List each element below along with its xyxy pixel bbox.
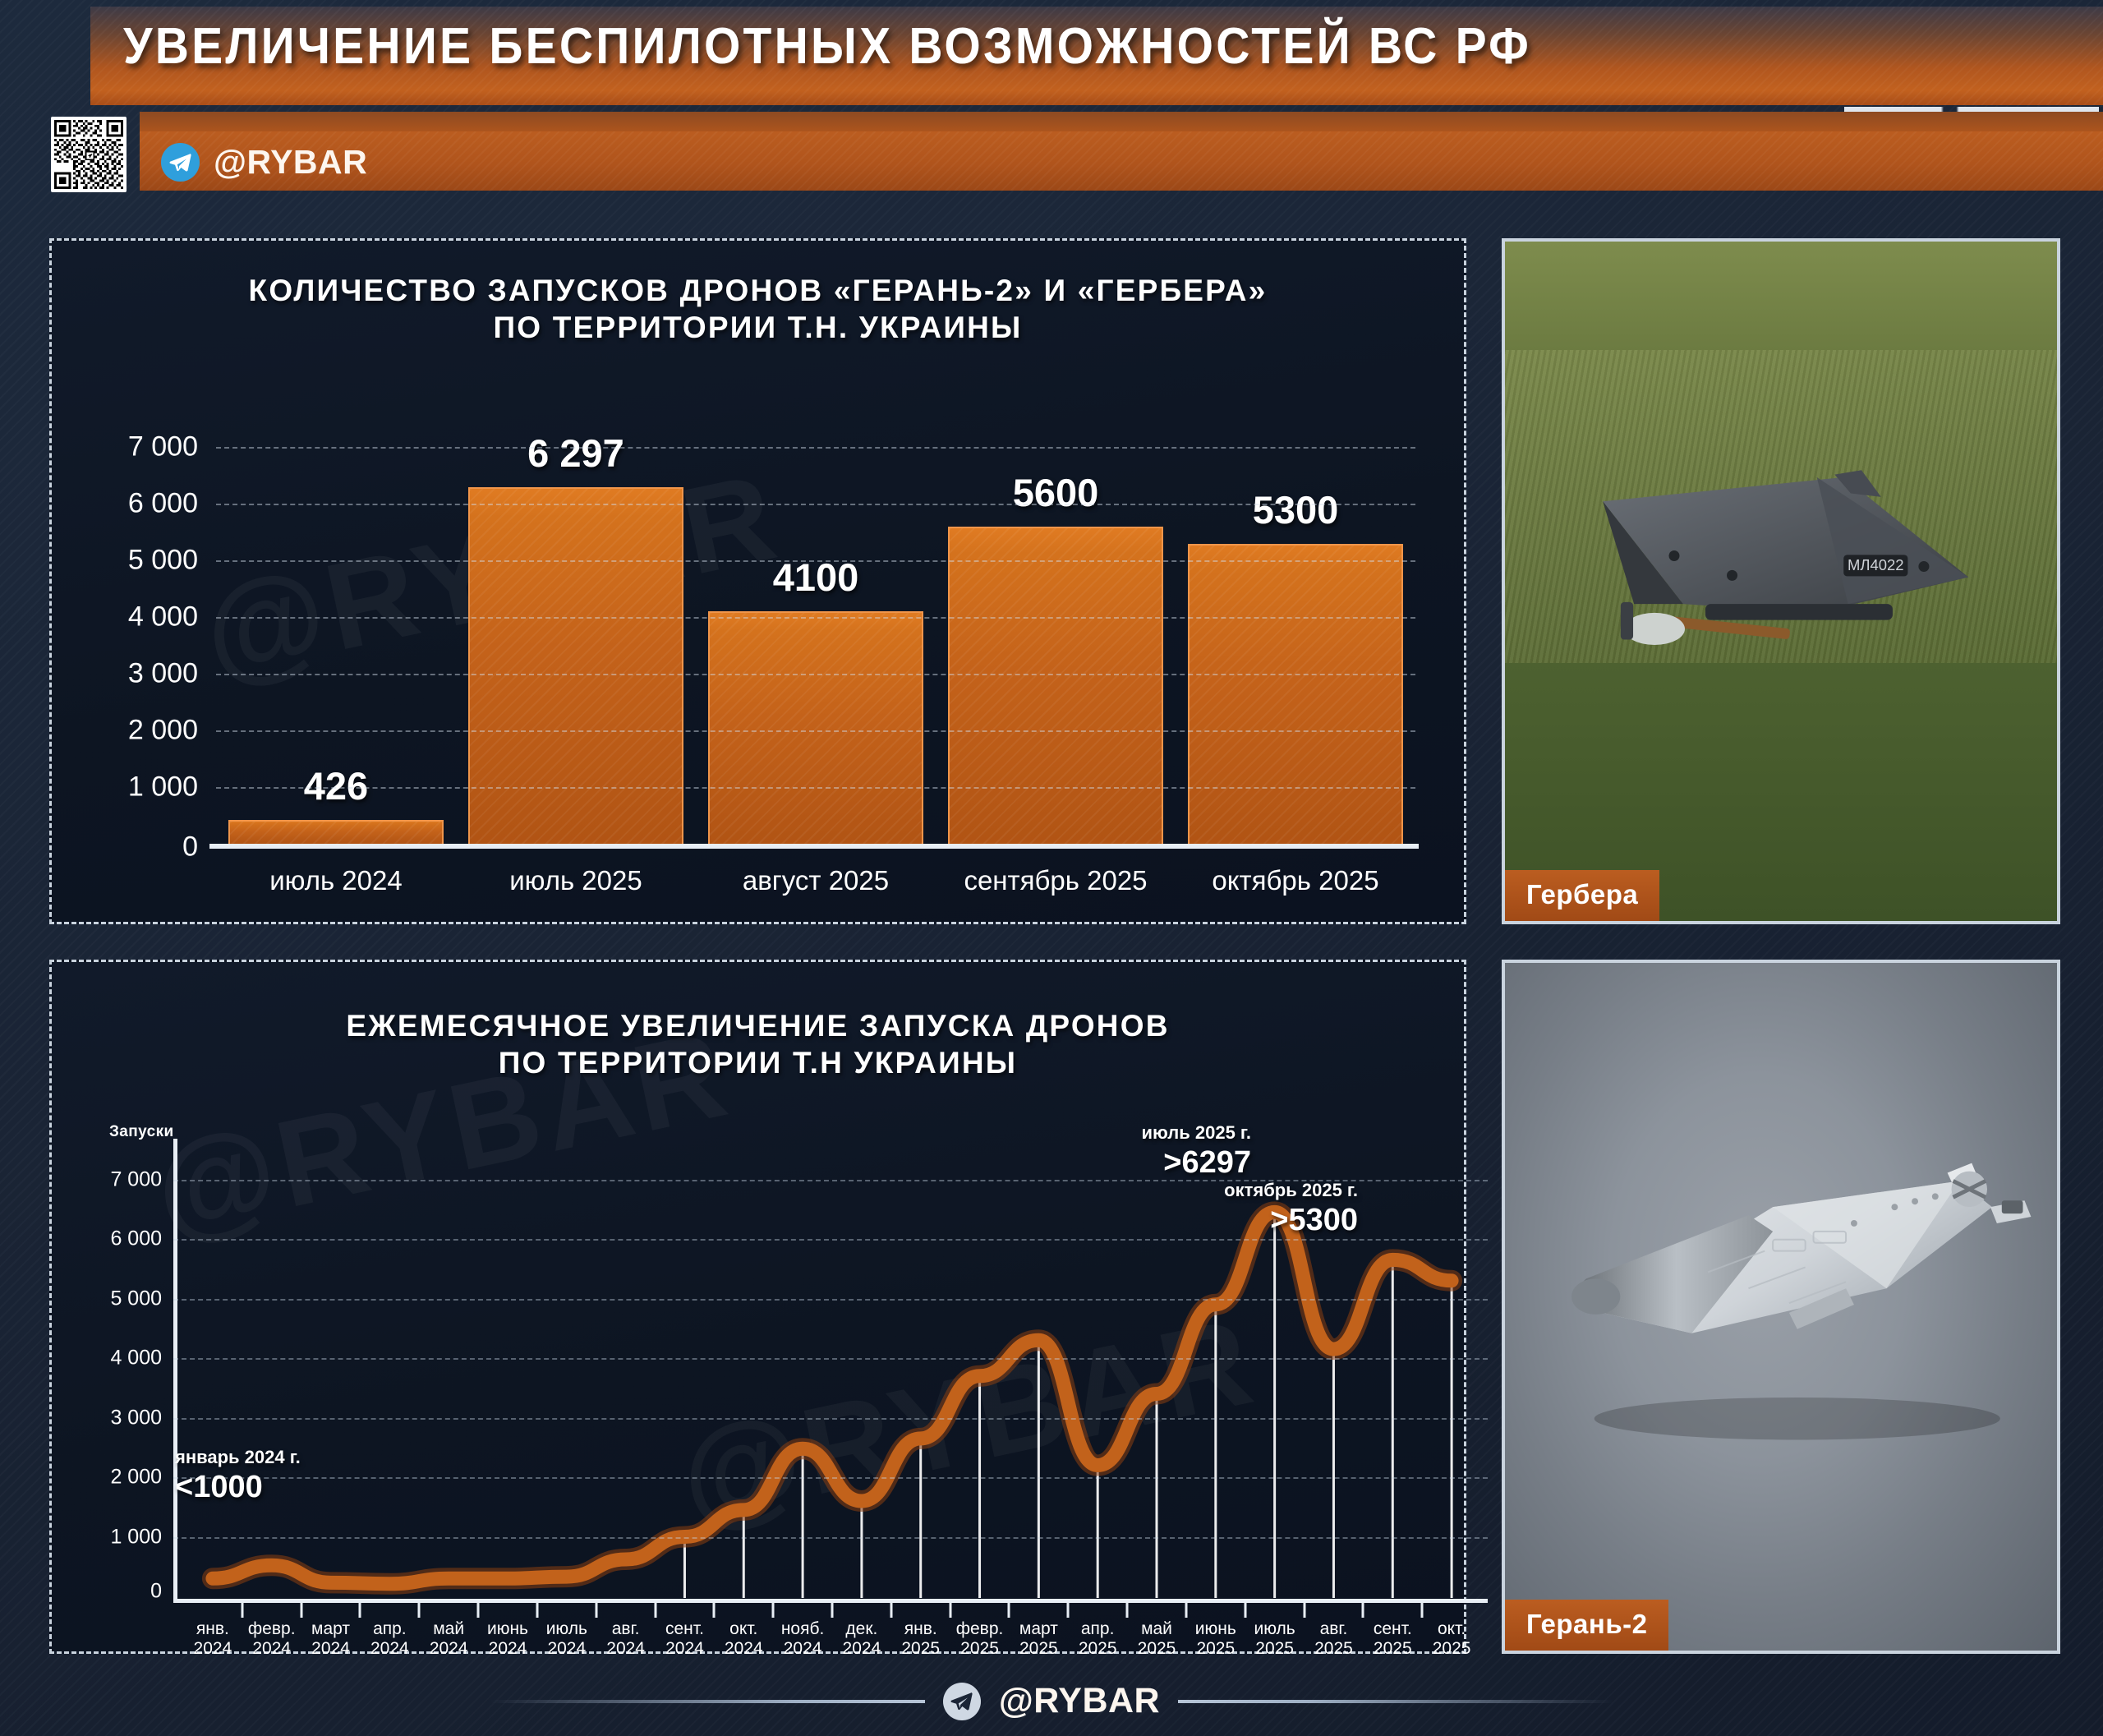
bar-category-label: август 2025 <box>743 865 889 896</box>
line-chart-line-glow <box>213 1212 1452 1583</box>
line-chart-x-tick-mark <box>1008 1603 1010 1618</box>
page-title: УВЕЛИЧЕНИЕ БЕСПИЛОТНЫХ ВОЗМОЖНОСТЕЙ ВС Р… <box>123 21 1531 72</box>
line-chart-x-tick-label: окт.2025 <box>1433 1619 1471 1658</box>
bar-value-label: 6 297 <box>527 431 624 476</box>
line-chart-x-tick-month: февр. <box>956 1619 1004 1638</box>
line-chart-x-tick-mark <box>1067 1603 1070 1618</box>
line-chart-x-tick-mark <box>418 1603 421 1618</box>
line-chart-x-tick-year: 2024 <box>784 1639 822 1658</box>
line-chart-x-tick-mark <box>595 1603 597 1618</box>
bar-chart-title-line2: ПО ТЕРРИТОРИИ Т.Н. УКРАИНЫ <box>52 309 1464 346</box>
page-header: УВЕЛИЧЕНИЕ БЕСПИЛОТНЫХ ВОЗМОЖНОСТЕЙ ВС Р… <box>0 0 2103 201</box>
line-chart-x-tick-month: сент. <box>665 1619 704 1638</box>
line-chart-gridline <box>173 1358 1488 1360</box>
line-chart-x-tick-mark <box>477 1603 480 1618</box>
line-chart-x-tick-label: янв.2024 <box>194 1619 232 1658</box>
bar-column[interactable]: 426июль 2024 <box>228 413 444 844</box>
subtitle-banner <box>140 131 2103 191</box>
line-chart-x-tick-year: 2024 <box>665 1639 704 1658</box>
line-chart-x-tick-month: февр. <box>248 1619 296 1638</box>
bar-chart-gridline <box>216 674 1415 675</box>
line-chart-x-tick-month: янв. <box>196 1619 229 1638</box>
bar-chart-y-tick: 4 000 <box>128 601 198 633</box>
gerbera-drone-photo: МЛ4022 Гербера <box>1502 238 2060 924</box>
line-chart-x-tick-month: май <box>1141 1619 1172 1638</box>
line-chart-x-tick-mark <box>949 1603 951 1618</box>
line-chart-x-tick-year: 2024 <box>843 1639 881 1658</box>
line-chart-line <box>213 1212 1452 1583</box>
line-chart-annotation-label: июль 2025 г. <box>1141 1122 1251 1144</box>
line-chart-x-tick-label: июль2024 <box>546 1619 587 1658</box>
line-chart-y-tick: 4 000 <box>110 1347 162 1370</box>
line-chart-title-line2: ПО ТЕРРИТОРИИ Т.Н УКРАИНЫ <box>52 1044 1464 1081</box>
line-chart-x-tick-year: 2025 <box>1433 1639 1471 1658</box>
line-chart-annotation: январь 2024 г.<1000 <box>175 1447 301 1505</box>
line-chart-x-tick-month: март <box>311 1619 350 1638</box>
geran2-drone-illustration <box>1505 963 2057 1651</box>
line-chart-x-tick-label: сент.2025 <box>1374 1619 1412 1658</box>
line-chart-x-tick-year: 2024 <box>725 1639 763 1658</box>
bar-column[interactable]: 5600сентябрь 2025 <box>948 413 1164 844</box>
line-chart-annotation: июль 2025 г.>6297 <box>1141 1122 1251 1181</box>
line-chart-x-tick-label: апр.2025 <box>1079 1619 1117 1658</box>
line-chart-x-tick-year: 2025 <box>1314 1639 1353 1658</box>
line-chart-x-tick-label: авг.2024 <box>606 1619 645 1658</box>
line-chart-x-tick-month: апр. <box>373 1619 407 1638</box>
line-chart-x-tick-month: июль <box>546 1619 587 1638</box>
bar[interactable] <box>708 611 924 844</box>
line-chart-gridline <box>173 1299 1488 1301</box>
line-chart-x-tick-year: 2024 <box>430 1639 468 1658</box>
line-chart-x-tick-label: янв.2025 <box>901 1619 940 1658</box>
line-chart-x-tick-month: сент. <box>1374 1619 1412 1638</box>
line-chart-x-tick-label: авг.2025 <box>1314 1619 1353 1658</box>
line-chart-title-line1: ЕЖЕМЕСЯЧНОЕ УВЕЛИЧЕНИЕ ЗАПУСКА ДРОНОВ <box>52 1007 1464 1044</box>
line-chart-x-tick-year: 2025 <box>901 1639 940 1658</box>
bar-category-label: сентябрь 2025 <box>964 865 1147 896</box>
line-chart-x-tick-month: июнь <box>1195 1619 1236 1638</box>
line-chart-x-tick-label: нояб.2024 <box>781 1619 825 1658</box>
line-chart-x-tick-month: янв. <box>904 1619 937 1638</box>
line-chart-x-tick-mark <box>772 1603 775 1618</box>
line-chart-x-tick-mark <box>1303 1603 1305 1618</box>
bar[interactable] <box>468 487 684 844</box>
telegram-icon <box>161 143 200 182</box>
line-chart-y-tick: 5 000 <box>110 1287 162 1310</box>
bar-chart-title-line1: КОЛИЧЕСТВО ЗАПУСКОВ ДРОНОВ «ГЕРАНЬ-2» И … <box>52 272 1464 309</box>
line-chart-gridline <box>173 1477 1488 1479</box>
bar-chart-gridline <box>216 787 1415 789</box>
line-chart-x-tick-mark <box>654 1603 656 1618</box>
telegram-icon <box>943 1683 981 1720</box>
gerbera-caption: Гербера <box>1505 870 1659 921</box>
line-chart-x-tick-mark <box>1421 1603 1424 1618</box>
line-chart-x-tick-mark <box>536 1603 538 1618</box>
line-chart-x-tick-label: март2025 <box>1019 1619 1058 1658</box>
line-chart-gridline <box>173 1537 1488 1539</box>
page-footer: @RYBAR <box>0 1681 2103 1721</box>
bar-chart-y-tick: 0 <box>182 831 198 863</box>
qr-code-icon[interactable] <box>51 117 127 192</box>
line-chart-x-tick-year: 2025 <box>960 1639 999 1658</box>
line-chart-x-tick-month: окт. <box>1438 1619 1466 1638</box>
line-chart-x-tick-label: июнь2024 <box>487 1619 528 1658</box>
bar-chart-plot-area: 426июль 20246 297июль 20254100август 202… <box>216 413 1415 849</box>
line-chart-x-tick-mark <box>1244 1603 1246 1618</box>
line-chart-x-tick-label: февр.2025 <box>956 1619 1004 1658</box>
line-chart-gridline <box>173 1239 1488 1241</box>
footer-divider-left <box>490 1700 925 1703</box>
line-chart-x-tick-label: дек.2024 <box>843 1619 881 1658</box>
line-chart-x-tick-month: март <box>1019 1619 1058 1638</box>
geran2-drone-photo: Герань-2 <box>1502 960 2060 1654</box>
line-chart-x-tick-label: апр.2024 <box>370 1619 409 1658</box>
line-chart-x-tick-month: май <box>433 1619 464 1638</box>
bar-category-label: июль 2025 <box>509 865 642 896</box>
line-chart-x-tick-year: 2025 <box>1374 1639 1412 1658</box>
line-chart-x-tick-year: 2024 <box>547 1639 586 1658</box>
bar[interactable] <box>228 820 444 844</box>
line-chart-x-tick-mark <box>1126 1603 1129 1618</box>
line-chart-x-tick-label: март2024 <box>311 1619 350 1658</box>
telegram-handle: @RYBAR <box>214 143 367 182</box>
line-chart-x-tick-label: февр.2024 <box>248 1619 296 1658</box>
bar-category-label: октябрь 2025 <box>1212 865 1378 896</box>
footer-divider-right <box>1178 1700 1613 1703</box>
bar-chart-panel: @RYBAR КОЛИЧЕСТВО ЗАПУСКОВ ДРОНОВ «ГЕРАН… <box>49 238 1466 924</box>
bar-column[interactable]: 5300октябрь 2025 <box>1188 413 1404 844</box>
bar-chart-bars: 426июль 20246 297июль 20254100август 202… <box>216 413 1415 844</box>
line-chart-gridline <box>173 1418 1488 1420</box>
line-chart-x-tick-mark <box>300 1603 302 1618</box>
telegram-channel-badge[interactable]: @RYBAR <box>161 143 367 182</box>
bar-chart-y-tick: 6 000 <box>128 488 198 520</box>
line-chart-x-tick-mark <box>359 1603 361 1618</box>
gerbera-drone-illustration: МЛ4022 <box>1549 432 2013 731</box>
line-chart-x-tick-month: нояб. <box>781 1619 825 1638</box>
line-chart-x-tick-month: апр. <box>1081 1619 1115 1638</box>
bar[interactable] <box>948 527 1164 844</box>
footer-telegram-handle: @RYBAR <box>999 1681 1160 1721</box>
line-chart-x-tick-year: 2024 <box>606 1639 645 1658</box>
line-chart-x-tick-mark <box>241 1603 243 1618</box>
line-chart-x-tick-month: окт. <box>729 1619 757 1638</box>
bar[interactable] <box>1188 544 1404 844</box>
line-chart-x-tick-month: дек. <box>845 1619 877 1638</box>
line-chart-x-tick-mark <box>890 1603 892 1618</box>
line-chart-x-tick-month: июль <box>1254 1619 1295 1638</box>
line-chart-x-tick-label: май2025 <box>1138 1619 1176 1658</box>
line-chart-x-tick-label: окт.2024 <box>725 1619 763 1658</box>
line-chart-y-tick: 3 000 <box>110 1406 162 1430</box>
line-chart-x-tick-year: 2024 <box>252 1639 291 1658</box>
line-chart-annotation-value: >6297 <box>1141 1145 1251 1181</box>
bar-column[interactable]: 6 297июль 2025 <box>468 413 684 844</box>
bar-value-label: 426 <box>304 763 368 808</box>
svg-text:МЛ4022: МЛ4022 <box>1848 555 1903 573</box>
line-chart-x-tick-mark <box>831 1603 834 1618</box>
line-chart-x-tick-mark <box>1185 1603 1187 1618</box>
line-chart-title: ЕЖЕМЕСЯЧНОЕ УВЕЛИЧЕНИЕ ЗАПУСКА ДРОНОВ ПО… <box>52 1007 1464 1081</box>
line-chart-annotation-label: январь 2024 г. <box>175 1447 301 1468</box>
bar-chart-gridline <box>216 504 1415 505</box>
line-chart-x-tick-year: 2024 <box>489 1639 527 1658</box>
line-chart-annotation-value: <1000 <box>175 1470 301 1505</box>
line-chart-y-tick: 7 000 <box>110 1167 162 1191</box>
line-chart-y-tick: 1 000 <box>110 1525 162 1549</box>
line-chart-annotation-value: >5300 <box>1224 1203 1358 1238</box>
line-chart-y-axis-label: Запуски <box>109 1123 174 1141</box>
line-chart-x-tick-year: 2025 <box>1079 1639 1117 1658</box>
line-chart-x-tick-month: авг. <box>612 1619 640 1638</box>
bar-chart-gridline <box>216 447 1415 449</box>
line-chart-y-tick: 2 000 <box>110 1466 162 1490</box>
line-chart-x-tick-mark <box>1362 1603 1364 1618</box>
line-chart-y-tick: 6 000 <box>110 1227 162 1251</box>
bar-chart-gridline <box>216 617 1415 619</box>
line-chart-x-tick-month: июнь <box>487 1619 528 1638</box>
line-chart-x-tick-label: сент.2024 <box>665 1619 704 1658</box>
bar-chart-y-tick: 1 000 <box>128 771 198 804</box>
bar-category-label: июль 2024 <box>269 865 403 896</box>
line-chart-annotation: октябрь 2025 г.>5300 <box>1224 1180 1358 1238</box>
geran2-caption: Герань-2 <box>1505 1600 1668 1651</box>
line-chart-x-tick-year: 2025 <box>1255 1639 1294 1658</box>
grass-band-top <box>1505 242 2057 350</box>
bar-chart-gridline <box>216 560 1415 562</box>
bar-chart-title: КОЛИЧЕСТВО ЗАПУСКОВ ДРОНОВ «ГЕРАНЬ-2» И … <box>52 272 1464 346</box>
line-chart-x-tick-mark <box>713 1603 716 1618</box>
bar-chart-y-tick: 7 000 <box>128 431 198 463</box>
bar-chart-y-tick: 5 000 <box>128 545 198 577</box>
line-chart-x-tick-label: май2024 <box>430 1619 468 1658</box>
line-chart-x-tick-year: 2024 <box>311 1639 350 1658</box>
line-chart-annotation-label: октябрь 2025 г. <box>1224 1180 1358 1201</box>
line-chart-x-tick-year: 2025 <box>1196 1639 1235 1658</box>
line-chart-x-tick-month: авг. <box>1320 1619 1348 1638</box>
line-chart-x-tick-year: 2025 <box>1019 1639 1058 1658</box>
line-chart-y-tick: 0 <box>150 1580 162 1604</box>
line-chart-x-tick-label: июнь2025 <box>1195 1619 1236 1658</box>
line-chart-panel: @RYBAR @RYBAR ЕЖЕМЕСЯЧНОЕ УВЕЛИЧЕНИЕ ЗАП… <box>49 960 1466 1654</box>
line-chart-x-tick-label: июль2025 <box>1254 1619 1295 1658</box>
bar-value-label: 5600 <box>1013 470 1099 515</box>
bar-chart-gridline <box>216 730 1415 732</box>
bar-chart-y-tick: 2 000 <box>128 715 198 747</box>
bar-chart-y-tick: 3 000 <box>128 658 198 690</box>
line-chart-x-tick-year: 2024 <box>194 1639 232 1658</box>
bar-column[interactable]: 4100август 2025 <box>708 413 924 844</box>
bar-value-label: 5300 <box>1253 487 1339 532</box>
line-chart-x-tick-year: 2025 <box>1138 1639 1176 1658</box>
bar-chart-x-axis <box>209 844 1419 849</box>
line-chart-x-tick-year: 2024 <box>370 1639 409 1658</box>
